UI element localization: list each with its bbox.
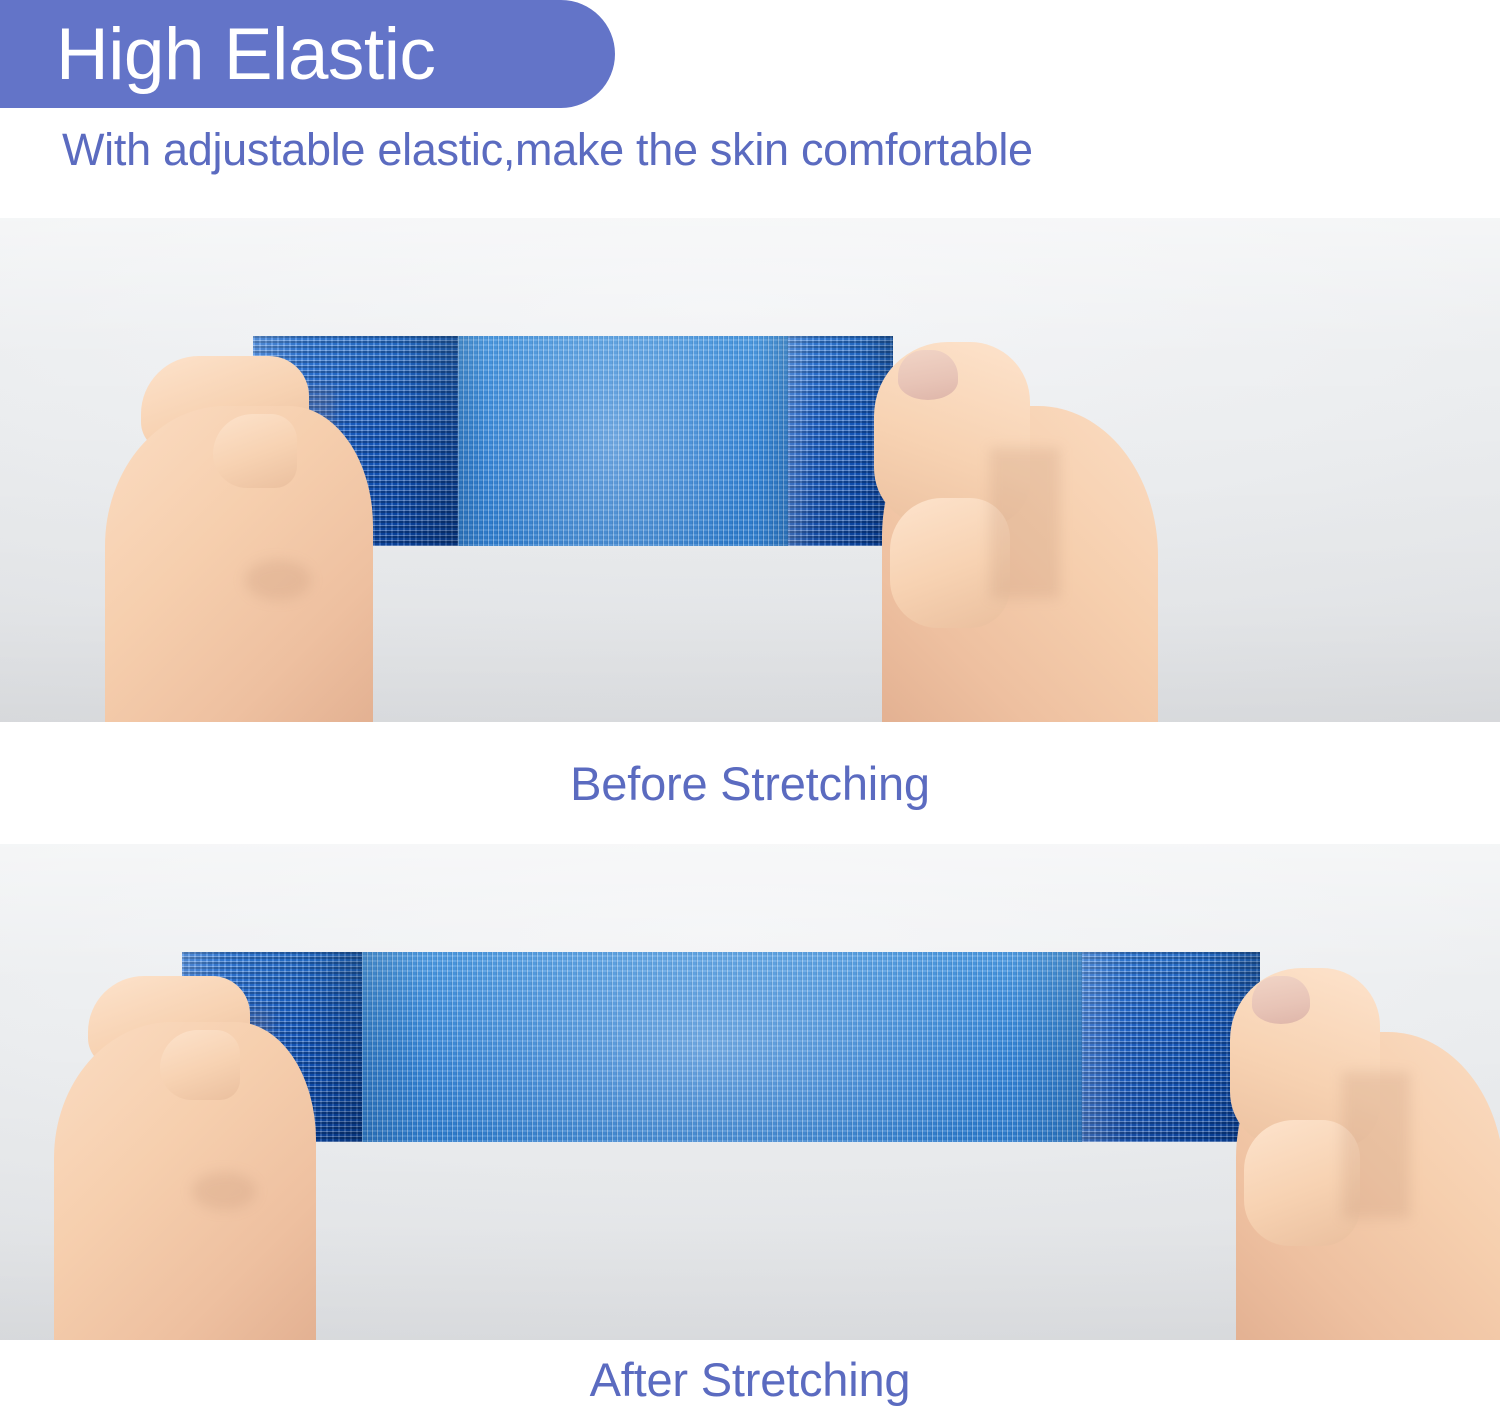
bandage-strip-after [182, 952, 1260, 1142]
right-hand-after [1190, 956, 1500, 1340]
bandage-stretched-section [458, 336, 788, 546]
subtitle: With adjustable elastic,make the skin co… [62, 124, 1033, 176]
header: High Elastic With adjustable elastic,mak… [0, 0, 1500, 218]
right-thumb-nail [898, 350, 958, 400]
left-index-finger-after [160, 1030, 240, 1100]
page-title: High Elastic [56, 18, 435, 91]
left-index-finger [213, 414, 297, 488]
caption-after-label: After Stretching [590, 1352, 911, 1407]
caption-before: Before Stretching [0, 722, 1500, 844]
photo-after-stretching [0, 844, 1500, 1340]
left-hand-after [48, 966, 328, 1340]
caption-before-label: Before Stretching [570, 756, 930, 811]
title-badge: High Elastic [0, 0, 615, 108]
bandage-stretched-section-after [362, 952, 1082, 1142]
caption-after: After Stretching [0, 1340, 1500, 1419]
right-thumb-nail-after [1252, 976, 1310, 1024]
right-hand-before [830, 328, 1160, 722]
photo-before-stretching [0, 218, 1500, 722]
left-hand-before [95, 348, 385, 722]
